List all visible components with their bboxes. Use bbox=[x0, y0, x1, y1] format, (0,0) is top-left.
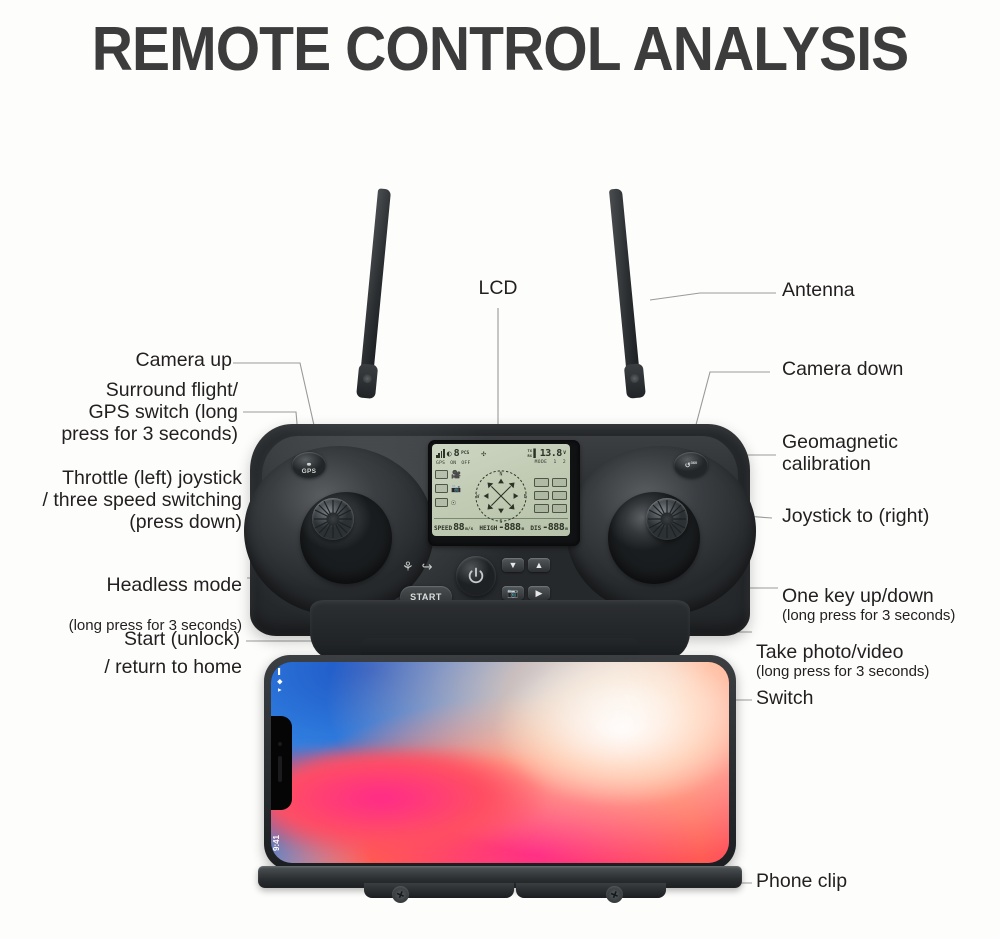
callout-start-unlock: Start (unlock) bbox=[0, 629, 240, 651]
callout-geomagnetic-calibration: Geomagnetic calibration bbox=[782, 432, 898, 476]
down-arrow-icon[interactable]: ▼ bbox=[502, 558, 524, 572]
lcd-segbox bbox=[435, 470, 448, 479]
mounted-phone: ▬ ◆ ▴ 9:41 bbox=[264, 655, 736, 870]
antenna-rod-right bbox=[609, 188, 639, 368]
lcd-height-label: HEIGH bbox=[479, 525, 497, 532]
antenna-right[interactable] bbox=[609, 188, 642, 398]
earpiece-speaker bbox=[278, 756, 282, 782]
svg-text:E: E bbox=[524, 494, 527, 500]
lcd-speed-label: SPEED bbox=[434, 525, 452, 532]
lcd-left-icons: 🎥 📷 ☉ bbox=[435, 470, 461, 507]
callout-antenna: Antenna bbox=[782, 280, 855, 302]
lcd-height-value: -888 bbox=[498, 522, 520, 533]
phone-screen[interactable]: ▬ ◆ ▴ 9:41 bbox=[271, 662, 729, 863]
signal-bars-icon bbox=[436, 450, 445, 458]
lcd-right-segments bbox=[534, 478, 567, 513]
lcd-satellite-count: 8 bbox=[454, 448, 460, 459]
joystick-ridges-icon bbox=[646, 498, 688, 540]
take-photo-sub: (long press for 3 seconds) bbox=[756, 664, 929, 681]
lcd-segbox bbox=[435, 484, 448, 493]
lcd-gps-label: GPS bbox=[436, 461, 445, 466]
lcd-segbox bbox=[552, 504, 567, 513]
lcd-screen: ◐ 8 PCS ✣ TX RX ▌ 13.8 V bbox=[432, 444, 570, 536]
one-key-updown-button[interactable]: ▼ ▲ bbox=[502, 558, 550, 572]
lcd-satellite-unit: PCS bbox=[461, 451, 469, 456]
diagram-canvas: REMOTE CONTROL ANALYSIS bbox=[0, 0, 1000, 939]
battery-icon: ▌ bbox=[533, 450, 538, 458]
phone-bezel: ▬ ◆ ▴ 9:41 bbox=[271, 662, 729, 863]
clip-tab-right bbox=[516, 883, 666, 898]
photo-camera-icon: 📷 bbox=[451, 485, 461, 493]
callout-joystick-right: Joystick to (right) bbox=[782, 506, 929, 528]
video-camera-icon[interactable]: ▶ bbox=[528, 586, 550, 600]
power-icon bbox=[466, 566, 486, 586]
lcd-speed-unit: m/s bbox=[465, 527, 473, 532]
callout-throttle-joystick: Throttle (left) joystick / three speed s… bbox=[0, 468, 242, 533]
lcd-segbox bbox=[534, 478, 549, 487]
lcd-segbox bbox=[435, 498, 448, 507]
gps-surround-flight-button[interactable]: ⚭ GPS bbox=[292, 452, 326, 478]
lcd-voltage: 13.8 bbox=[540, 448, 562, 459]
clip-screw-left bbox=[392, 886, 409, 903]
callout-phone-clip: Phone clip bbox=[756, 871, 847, 893]
status-time: 9:41 bbox=[272, 835, 281, 851]
lcd-speed-value: 88 bbox=[453, 522, 464, 533]
lcd-mode-row: MODE 1 2 bbox=[535, 460, 566, 465]
remote-controller: ◐ 8 PCS ✣ TX RX ▌ 13.8 V bbox=[250, 418, 750, 658]
power-switch-button[interactable] bbox=[456, 556, 496, 596]
fan-icon: ☉ bbox=[451, 499, 456, 507]
lcd-segbox bbox=[552, 491, 567, 500]
joystick-right[interactable] bbox=[608, 492, 700, 584]
lcd-segbox bbox=[534, 504, 549, 513]
one-key-main: One key up/down bbox=[782, 585, 934, 607]
take-photo-video-button[interactable]: 📷 ▶ bbox=[502, 586, 550, 600]
lcd-distance-label: DIS bbox=[530, 525, 541, 532]
headless-line-3: / return to home bbox=[104, 656, 242, 678]
joystick-ridges-icon bbox=[312, 498, 354, 540]
headless-line-1: Headless mode bbox=[107, 574, 243, 596]
take-photo-main: Take photo/video bbox=[756, 641, 903, 663]
lcd-distance-unit: m bbox=[565, 527, 568, 532]
antenna-left[interactable] bbox=[358, 188, 391, 398]
antenna-hinge-left bbox=[356, 363, 378, 399]
throttle-joystick-left[interactable] bbox=[300, 492, 392, 584]
gps-button-label: GPS bbox=[302, 469, 317, 476]
geomagnetic-calibration-button[interactable]: ↺360 bbox=[674, 452, 708, 478]
status-signal-icons: ▬ ◆ ▴ bbox=[276, 668, 284, 693]
lcd-off-label: OFF bbox=[461, 461, 470, 466]
callout-camera-up: Camera up bbox=[0, 350, 232, 372]
wallpaper-swirl bbox=[271, 750, 637, 863]
clip-screw-right bbox=[606, 886, 623, 903]
lcd-height-unit: m bbox=[522, 527, 525, 532]
callout-camera-down: Camera down bbox=[782, 359, 903, 381]
return-to-home-icon[interactable]: ↪ bbox=[422, 560, 433, 573]
photo-camera-icon[interactable]: 📷 bbox=[502, 586, 524, 600]
video-camera-icon: 🎥 bbox=[451, 471, 461, 479]
lcd-mode-label: MODE bbox=[535, 460, 548, 465]
joystick-knob-right[interactable] bbox=[646, 498, 688, 540]
headless-rth-button-group[interactable]: ⚘ ↪ bbox=[402, 560, 433, 573]
lcd-segbox bbox=[552, 478, 567, 487]
clip-tab-left bbox=[364, 883, 514, 898]
callout-lcd: LCD bbox=[438, 278, 558, 300]
lcd-distance-value: -888 bbox=[542, 522, 564, 533]
satellite-icon: ◐ bbox=[447, 450, 452, 458]
joystick-knob-left[interactable] bbox=[312, 498, 354, 540]
antenna-rod-left bbox=[361, 188, 391, 368]
lcd-mode-1: 1 bbox=[553, 460, 556, 465]
phone-frame: ▬ ◆ ▴ 9:41 bbox=[264, 655, 736, 870]
callout-headless-mode: Headless mode (long press for 3 seconds)… bbox=[0, 553, 242, 679]
lcd-telemetry-row: SPEED 88 m/s HEIGH -888 m DIS -888 m bbox=[434, 518, 568, 534]
up-arrow-icon[interactable]: ▲ bbox=[528, 558, 550, 572]
callout-surround-flight-gps: Surround flight/ GPS switch (long press … bbox=[0, 380, 238, 445]
drone-icon: ✣ bbox=[481, 450, 486, 458]
phone-clip[interactable] bbox=[258, 866, 742, 900]
antenna-hinge-right bbox=[624, 363, 646, 399]
remote-body: ◐ 8 PCS ✣ TX RX ▌ 13.8 V bbox=[250, 424, 750, 636]
crosshair-icon[interactable]: ⚘ bbox=[402, 560, 414, 573]
lcd-on-label: ON bbox=[450, 461, 456, 466]
svg-text:W: W bbox=[476, 494, 479, 500]
svg-text:N: N bbox=[500, 472, 503, 478]
page-title: REMOTE CONTROL ANALYSIS bbox=[40, 14, 960, 85]
lcd-bezel: ◐ 8 PCS ✣ TX RX ▌ 13.8 V bbox=[428, 440, 580, 546]
lcd-segbox bbox=[534, 491, 549, 500]
callout-switch: Switch bbox=[756, 688, 813, 710]
phone-notch bbox=[271, 716, 292, 810]
lcd-rx-label: RX bbox=[528, 454, 532, 458]
compass-360-icon: ↺360 bbox=[685, 461, 698, 469]
compass-rose-icon: N S E W bbox=[472, 467, 530, 525]
lcd-voltage-unit: V bbox=[563, 451, 566, 456]
lcd-mode-2: 2 bbox=[563, 460, 566, 465]
